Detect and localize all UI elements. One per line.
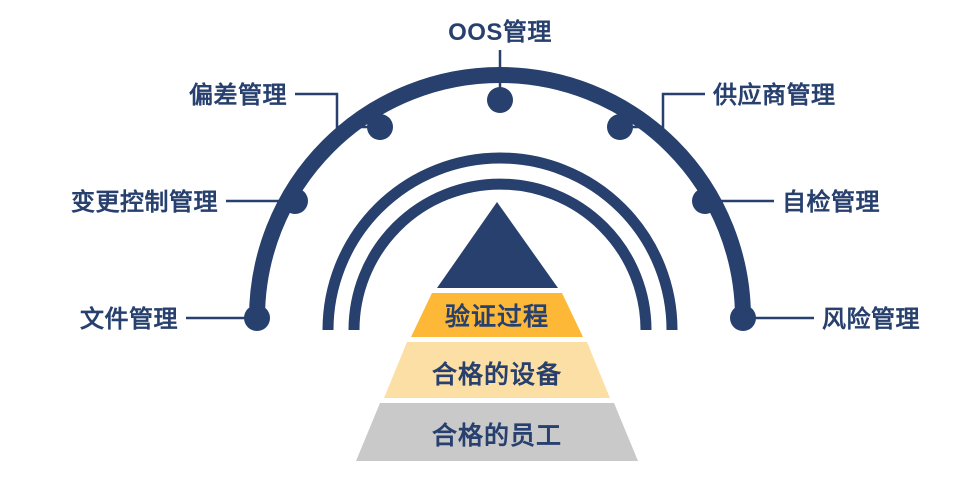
arc-label-supplier[interactable]: 供应商管理 bbox=[712, 81, 836, 109]
arc-node-self-inspect[interactable] bbox=[692, 188, 718, 214]
arc-group bbox=[257, 75, 743, 330]
arc-label-change-control[interactable]: 变更控制管理 bbox=[71, 188, 218, 216]
arc-node-risk[interactable] bbox=[730, 305, 756, 331]
pyramid-tier-personnel-label: 合格的员工 bbox=[432, 421, 562, 450]
pyramid-label-group: 验证过程 合格的设备 合格的员工 bbox=[432, 302, 562, 450]
arc-node-deviation[interactable] bbox=[367, 114, 393, 140]
pyramid-apex-triangle bbox=[437, 202, 558, 288]
arc-node-oos[interactable] bbox=[487, 87, 513, 113]
arc-label-oos[interactable]: OOS管理 bbox=[448, 18, 552, 46]
arc-node-document[interactable] bbox=[244, 305, 270, 331]
arc-label-deviation[interactable]: 偏差管理 bbox=[189, 81, 287, 109]
arc-label-self-inspect[interactable]: 自检管理 bbox=[782, 188, 880, 216]
arc-label-document[interactable]: 文件管理 bbox=[80, 305, 178, 333]
arc-node-change-control[interactable] bbox=[282, 188, 308, 214]
diagram-canvas: 验证过程 合格的设备 合格的员工 OOS管理 偏差管理 变更控制管理 文件管理 … bbox=[0, 0, 975, 482]
arc-node-supplier[interactable] bbox=[607, 114, 633, 140]
quality-arc-pyramid-diagram: 验证过程 合格的设备 合格的员工 OOS管理 偏差管理 变更控制管理 文件管理 … bbox=[0, 0, 975, 482]
pyramid-tier-equipment-label: 合格的设备 bbox=[432, 360, 562, 389]
arc-label-risk[interactable]: 风险管理 bbox=[822, 305, 920, 333]
pyramid-tier-validation-label: 验证过程 bbox=[445, 302, 549, 331]
